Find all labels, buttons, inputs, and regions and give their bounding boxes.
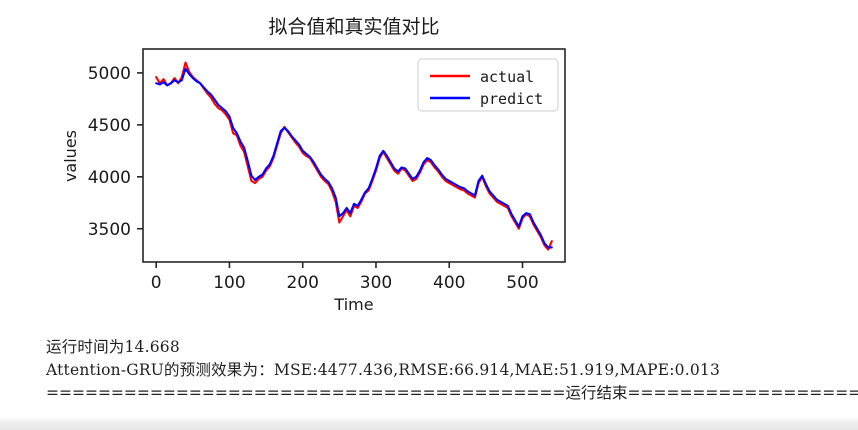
- x-tick-label: 100: [213, 273, 245, 293]
- legend-label-actual: actual: [480, 68, 534, 86]
- runtime-line: 运行时间为14.668: [46, 336, 858, 359]
- x-tick-label: 300: [360, 273, 392, 293]
- x-tick-label: 400: [433, 273, 465, 293]
- x-tick-label: 0: [151, 273, 162, 293]
- x-tick-label: 500: [506, 273, 538, 293]
- chart-title: 拟合值和真实值对比: [268, 16, 439, 38]
- y-axis-title: values: [61, 130, 80, 182]
- window-bottom-strip: [0, 416, 858, 430]
- separator-line: ========================================…: [46, 382, 858, 405]
- metrics-line: Attention-GRU的预测效果为：MSE:4477.436,RMSE:66…: [46, 359, 858, 382]
- y-tick-label: 5000: [88, 64, 131, 84]
- x-axis-title: Time: [333, 295, 373, 314]
- y-tick-label: 4500: [88, 116, 131, 136]
- x-tick-label: 200: [286, 273, 318, 293]
- legend-label-predict: predict: [480, 90, 543, 108]
- y-tick-label: 4000: [88, 168, 131, 188]
- matplotlib-figure: 拟合值和真实值对比 3500400045005000 0100200300400…: [0, 0, 640, 330]
- chart-legend[interactable]: actual predict: [418, 59, 558, 111]
- y-tick-label: 3500: [88, 220, 131, 240]
- console-output: 运行时间为14.668 Attention-GRU的预测效果为：MSE:4477…: [46, 336, 858, 405]
- chart-svg: 拟合值和真实值对比 3500400045005000 0100200300400…: [0, 0, 640, 330]
